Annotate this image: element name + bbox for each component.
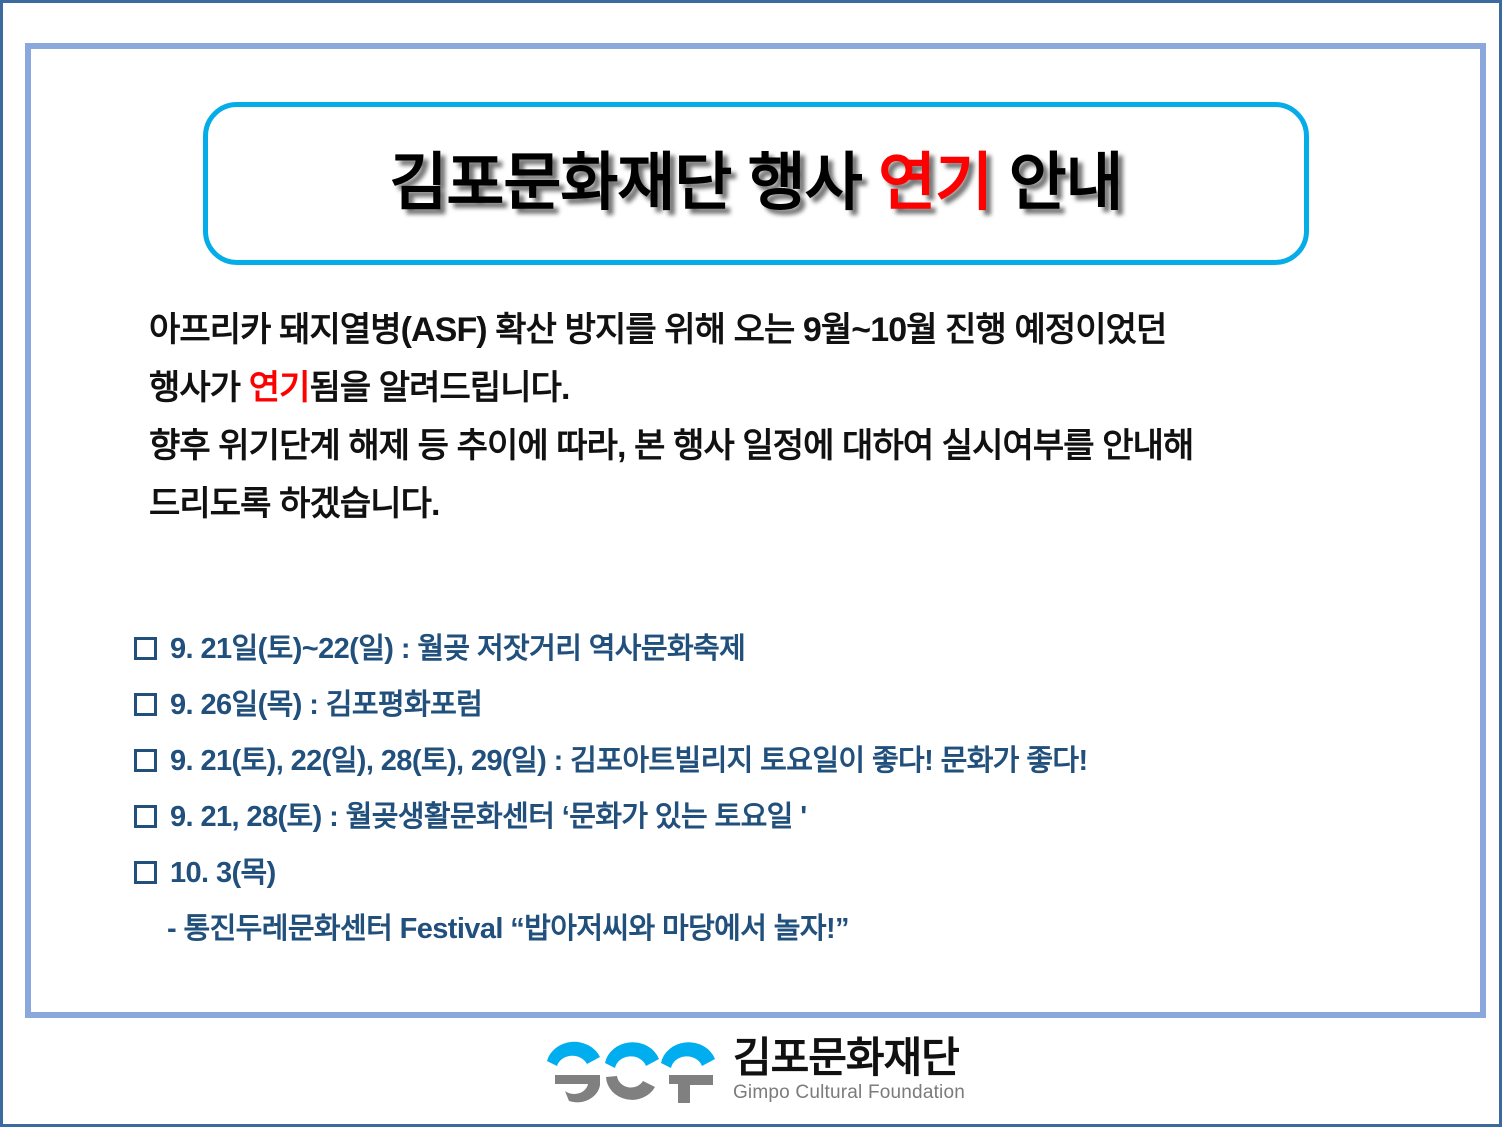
logo-wordmark: 김포문화재단 Gimpo Cultural Foundation [733,1035,965,1105]
poster-canvas: 김포문화재단 행사 연기 안내 아프리카 돼지열병(ASF) 확산 방지를 위해… [0,0,1502,1127]
gcf-logo-mark-icon [543,1035,719,1105]
list-item: 9. 26일(목) : 김포평화포럼 [134,685,1434,725]
list-item-row: 9. 21일(토)~22(일) : 월곶 저잣거리 역사문화축제 [134,629,1434,669]
square-bullet-icon [134,693,157,716]
body-line-2-after: 됨을 알려드립니다. [309,369,569,407]
title-highlight-word: 연기 [878,148,992,218]
square-bullet-icon [134,861,157,884]
body-line-2: 행사가 연기됨을 알려드립니다. [149,359,1399,417]
footer-logo: 김포문화재단 Gimpo Cultural Foundation [3,1035,1502,1105]
list-item: 9. 21(토), 22(일), 28(토), 29(일) : 김포아트빌리지 … [134,741,1434,781]
square-bullet-icon [134,749,157,772]
title-box: 김포문화재단 행사 연기 안내 [203,102,1309,265]
body-highlight-word: 연기 [249,369,310,407]
title-text-after: 안내 [992,148,1122,218]
page-title: 김포문화재단 행사 연기 안내 [389,152,1122,215]
list-item-row: 9. 26일(목) : 김포평화포럼 [134,685,1434,725]
logo-english-name: Gimpo Cultural Foundation [733,1081,965,1105]
title-text-before: 김포문화재단 행사 [389,148,878,218]
event-list: 9. 21일(토)~22(일) : 월곶 저잣거리 역사문화축제 9. 26일(… [134,629,1434,949]
list-item: 9. 21, 28(토) : 월곶생활문화센터 ‘문화가 있는 토요일 ' [134,797,1434,837]
body-line-1: 아프리카 돼지열병(ASF) 확산 방지를 위해 오는 9월~10월 진행 예정… [149,301,1399,359]
body-line-2-before: 행사가 [149,369,249,407]
square-bullet-icon [134,805,157,828]
list-item: 10. 3(목) - 통진두레문화센터 Festival “밥아저씨와 마당에서… [134,853,1434,949]
list-item-sub-label: - 통진두레문화센터 Festival “밥아저씨와 마당에서 놀자!” [167,909,1434,949]
square-bullet-icon [134,637,157,660]
body-line-3: 향후 위기단계 해제 등 추이에 따라, 본 행사 일정에 대하여 실시여부를 … [149,417,1399,475]
list-item-row: 9. 21, 28(토) : 월곶생활문화센터 ‘문화가 있는 토요일 ' [134,797,1434,837]
body-line-4: 드리도록 하겠습니다. [149,475,1399,533]
body-paragraph: 아프리카 돼지열병(ASF) 확산 방지를 위해 오는 9월~10월 진행 예정… [149,301,1399,533]
list-item-label: 9. 21일(토)~22(일) : 월곶 저잣거리 역사문화축제 [170,629,745,669]
list-item-label: 10. 3(목) [170,853,276,893]
list-item-label: 9. 21, 28(토) : 월곶생활문화센터 ‘문화가 있는 토요일 ' [170,797,807,837]
list-item-label: 9. 26일(목) : 김포평화포럼 [170,685,482,725]
list-item-label: 9. 21(토), 22(일), 28(토), 29(일) : 김포아트빌리지 … [170,741,1088,781]
list-item-row: 10. 3(목) [134,853,1434,893]
list-item: 9. 21일(토)~22(일) : 월곶 저잣거리 역사문화축제 [134,629,1434,669]
logo-korean-name: 김포문화재단 [733,1035,965,1081]
list-item-row: 9. 21(토), 22(일), 28(토), 29(일) : 김포아트빌리지 … [134,741,1434,781]
